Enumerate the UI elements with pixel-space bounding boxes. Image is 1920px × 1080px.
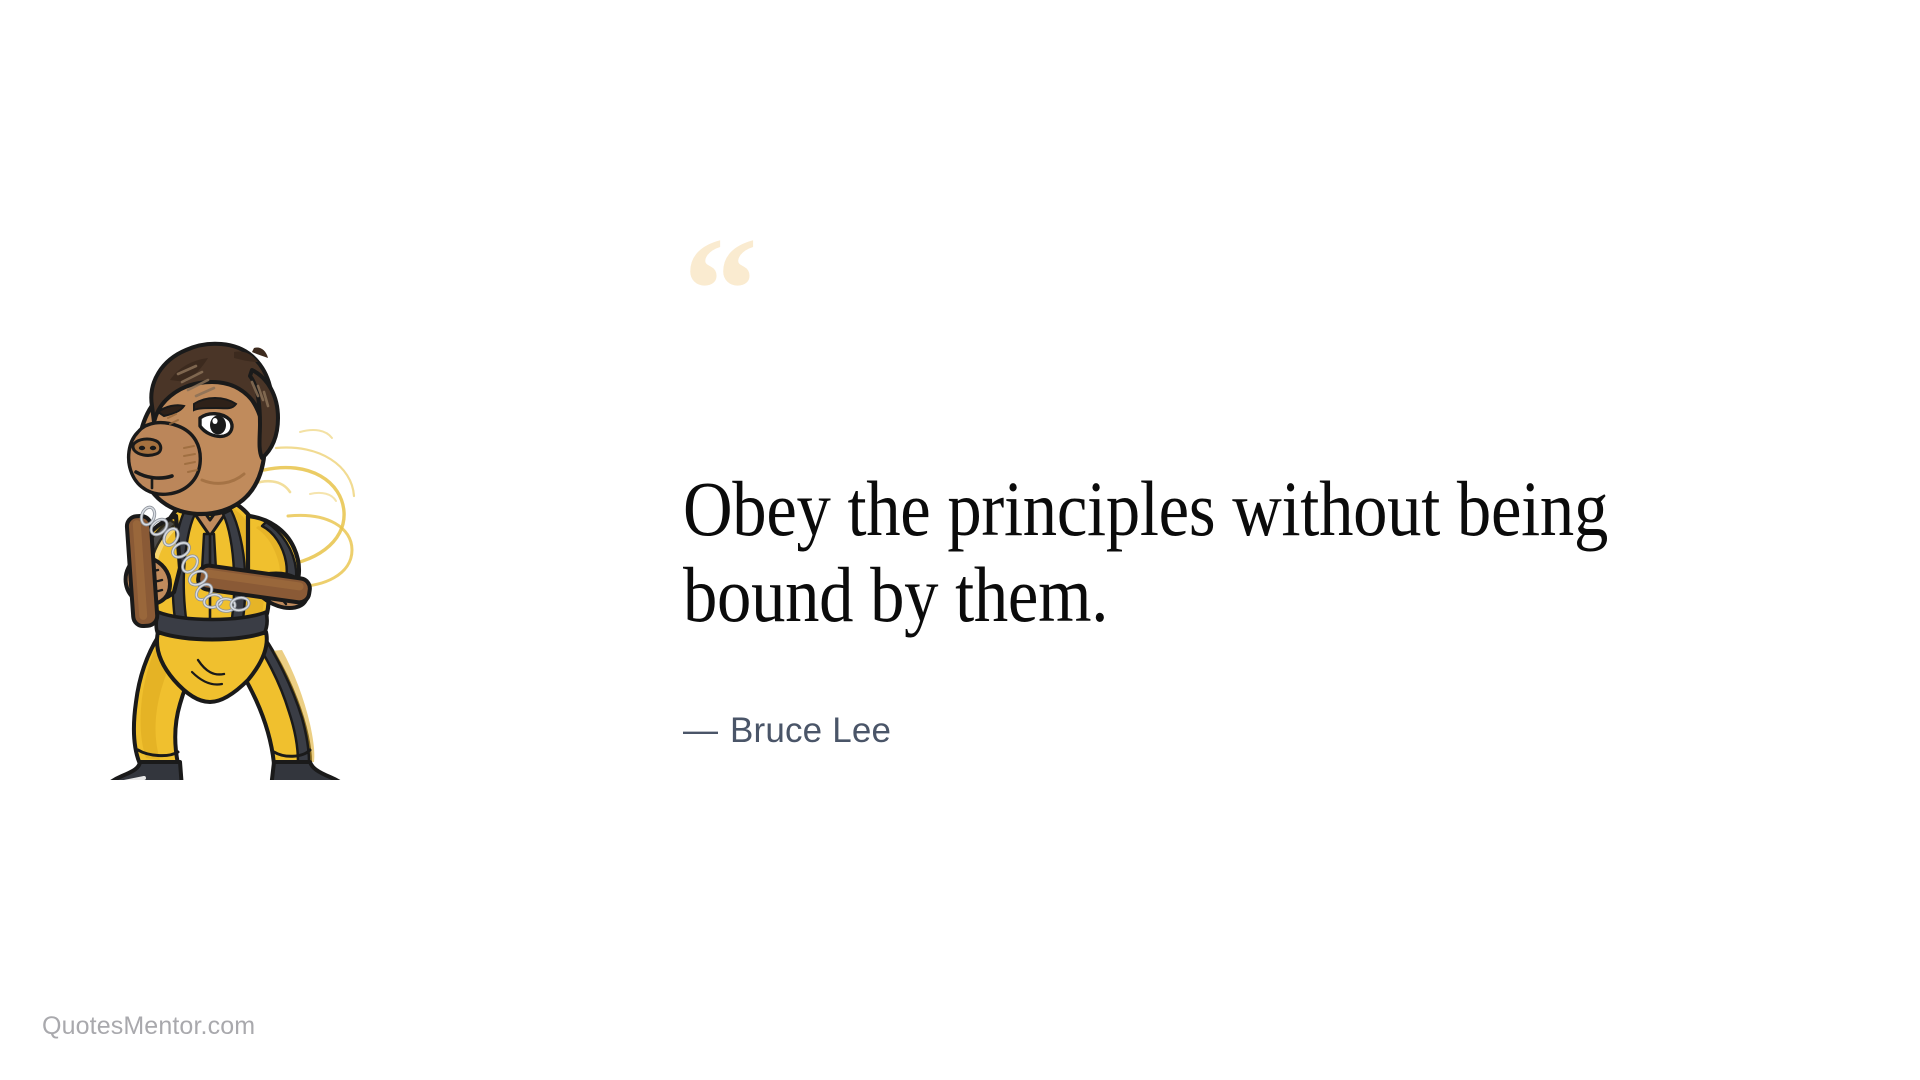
quote-attribution: — Bruce Lee — [683, 710, 1863, 752]
quote-content: “ Obey the principles without being boun… — [683, 232, 1863, 752]
shoe-left — [100, 762, 182, 780]
quote-text: Obey the principles without being bound … — [683, 466, 1721, 638]
attribution-dash: — — [683, 711, 720, 750]
quote-card: “ Obey the principles without being boun… — [0, 0, 1920, 1080]
open-quote-icon: “ — [683, 232, 1863, 324]
shoe-right — [271, 762, 352, 780]
site-watermark: QuotesMentor.com — [42, 1012, 255, 1041]
attribution-author: Bruce Lee — [730, 711, 891, 750]
bruce-lee-illustration — [52, 320, 362, 780]
